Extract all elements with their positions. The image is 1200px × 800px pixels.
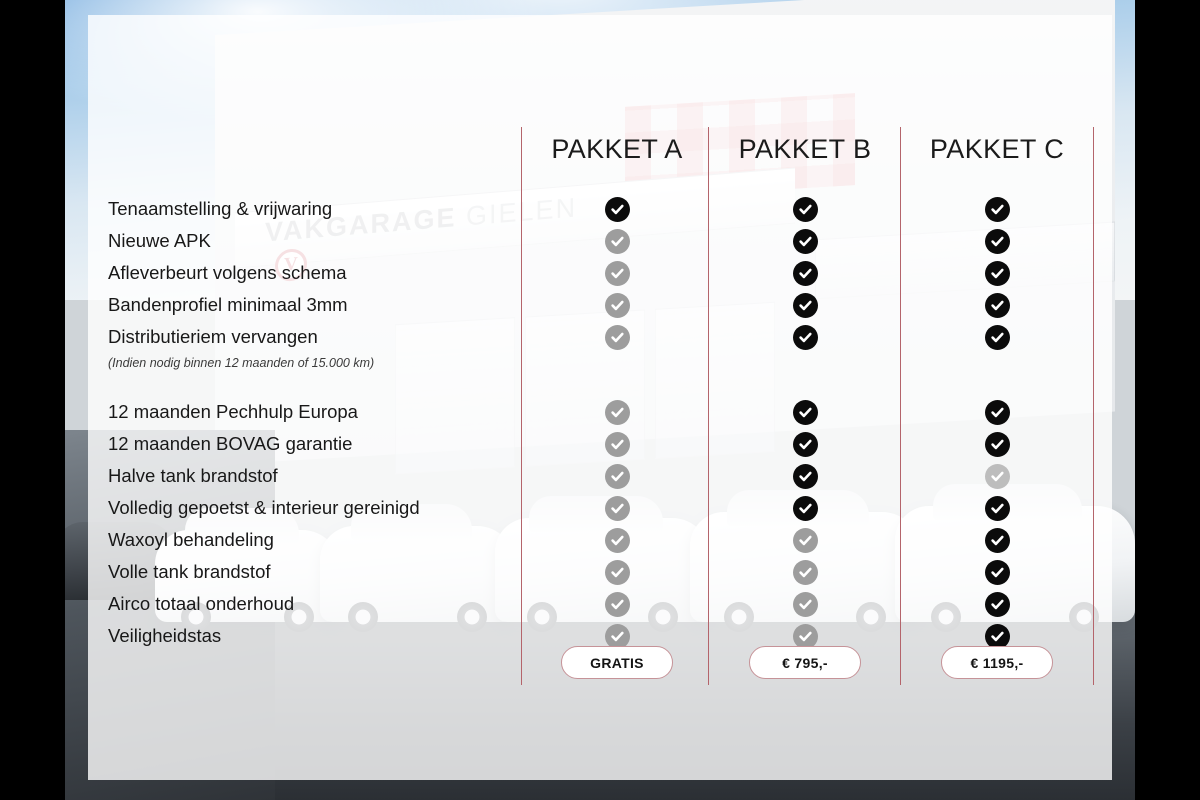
check-icon-excluded	[605, 293, 630, 318]
check-icon-excluded	[793, 528, 818, 553]
check-cell	[522, 396, 712, 428]
check-cell	[522, 225, 712, 257]
check-icon-excluded	[605, 560, 630, 585]
feature-label: Halve tank brandstof	[108, 460, 518, 492]
check-icon-included	[985, 293, 1010, 318]
check-icon-excluded	[605, 624, 630, 649]
check-cell	[522, 588, 712, 620]
check-icon-included	[985, 229, 1010, 254]
column-header-pakket-b: PAKKET B	[710, 134, 900, 165]
check-icon-included	[985, 592, 1010, 617]
check-icon-included	[985, 560, 1010, 585]
check-cell	[522, 460, 712, 492]
screenshot-stage: VAKGARAGE GIELEN	[0, 0, 1200, 800]
check-icon-excluded	[605, 229, 630, 254]
check-cell	[522, 193, 712, 225]
check-cell	[902, 225, 1092, 257]
check-icon-excluded	[793, 624, 818, 649]
check-column-pakket-a	[522, 193, 712, 652]
check-icon-included	[985, 624, 1010, 649]
check-cell	[710, 524, 900, 556]
check-cell	[902, 396, 1092, 428]
check-cell	[902, 524, 1092, 556]
check-icon-excluded	[605, 400, 630, 425]
feature-label: Bandenprofiel minimaal 3mm	[108, 289, 518, 321]
feature-label: 12 maanden BOVAG garantie	[108, 428, 518, 460]
check-cell	[710, 257, 900, 289]
check-icon-excluded	[605, 528, 630, 553]
check-icon-included	[985, 261, 1010, 286]
check-cell	[710, 225, 900, 257]
check-cell	[710, 460, 900, 492]
check-cell	[902, 460, 1092, 492]
check-icon-included	[985, 325, 1010, 350]
check-icon-included	[605, 197, 630, 222]
check-icon-included	[793, 325, 818, 350]
check-cell	[522, 524, 712, 556]
check-cell	[710, 193, 900, 225]
check-cell	[710, 396, 900, 428]
check-cell	[710, 321, 900, 353]
package-comparison-table: PAKKET A PAKKET B PAKKET C Tenaamstellin…	[88, 15, 1112, 780]
check-column-pakket-b	[710, 193, 900, 652]
feature-subnote: (Indien nodig binnen 12 maanden of 15.00…	[108, 354, 518, 372]
feature-label: Nieuwe APK	[108, 225, 518, 257]
check-cell	[710, 428, 900, 460]
check-icon-included	[793, 464, 818, 489]
feature-label: Afleverbeurt volgens schema	[108, 257, 518, 289]
feature-label: Volle tank brandstof	[108, 556, 518, 588]
check-icon-excluded	[605, 432, 630, 457]
check-cell	[522, 257, 712, 289]
check-icon-excluded	[605, 325, 630, 350]
check-icon-included	[985, 400, 1010, 425]
check-cell	[522, 492, 712, 524]
check-cell	[902, 492, 1092, 524]
check-cell	[902, 556, 1092, 588]
feature-label: 12 maanden Pechhulp Europa	[108, 396, 518, 428]
spacer	[522, 372, 712, 396]
column-header-pakket-c: PAKKET C	[902, 134, 1092, 165]
check-icon-included	[985, 432, 1010, 457]
check-icon-excluded	[605, 464, 630, 489]
check-icon-included	[985, 528, 1010, 553]
check-icon-included	[985, 496, 1010, 521]
check-cell	[710, 492, 900, 524]
check-icon-included	[793, 261, 818, 286]
check-cell	[902, 257, 1092, 289]
check-icon-excluded	[605, 261, 630, 286]
feature-label: Tenaamstelling & vrijwaring	[108, 193, 518, 225]
group-spacer	[108, 372, 518, 396]
spacer	[902, 372, 1092, 396]
check-cell	[902, 428, 1092, 460]
feature-label: Distributieriem vervangen	[108, 321, 518, 353]
check-cell	[902, 289, 1092, 321]
check-cell	[902, 588, 1092, 620]
spacer	[902, 353, 1092, 372]
column-header-pakket-a: PAKKET A	[522, 134, 712, 165]
feature-label: Airco totaal onderhoud	[108, 588, 518, 620]
price-button-pakket-b[interactable]: € 795,-	[749, 646, 861, 679]
price-button-pakket-c[interactable]: € 1195,-	[941, 646, 1053, 679]
price-button-pakket-a[interactable]: GRATIS	[561, 646, 673, 679]
check-icon-excluded	[605, 496, 630, 521]
feature-label: Waxoyl behandeling	[108, 524, 518, 556]
check-icon-excluded	[793, 592, 818, 617]
check-icon-excluded	[985, 464, 1010, 489]
check-icon-included	[793, 229, 818, 254]
check-icon-included	[793, 197, 818, 222]
feature-label-column: Tenaamstelling & vrijwaringNieuwe APKAfl…	[108, 193, 518, 652]
content-panel: PAKKET A PAKKET B PAKKET C Tenaamstellin…	[88, 15, 1112, 780]
check-cell	[902, 321, 1092, 353]
column-divider	[1093, 127, 1094, 685]
spacer	[710, 372, 900, 396]
check-icon-included	[793, 432, 818, 457]
check-cell	[710, 556, 900, 588]
check-icon-excluded	[605, 592, 630, 617]
check-cell	[710, 289, 900, 321]
spacer	[522, 353, 712, 372]
check-icon-included	[985, 197, 1010, 222]
check-icon-included	[793, 400, 818, 425]
check-icon-included	[793, 496, 818, 521]
feature-label: Volledig gepoetst & interieur gereinigd	[108, 492, 518, 524]
check-icon-included	[793, 293, 818, 318]
column-divider	[900, 127, 901, 685]
check-cell	[522, 321, 712, 353]
check-cell	[522, 289, 712, 321]
check-icon-excluded	[793, 560, 818, 585]
check-cell	[710, 588, 900, 620]
check-cell	[522, 428, 712, 460]
check-column-pakket-c	[902, 193, 1092, 652]
spacer	[710, 353, 900, 372]
check-cell	[902, 193, 1092, 225]
feature-label: Veiligheidstas	[108, 620, 518, 652]
check-cell	[522, 556, 712, 588]
